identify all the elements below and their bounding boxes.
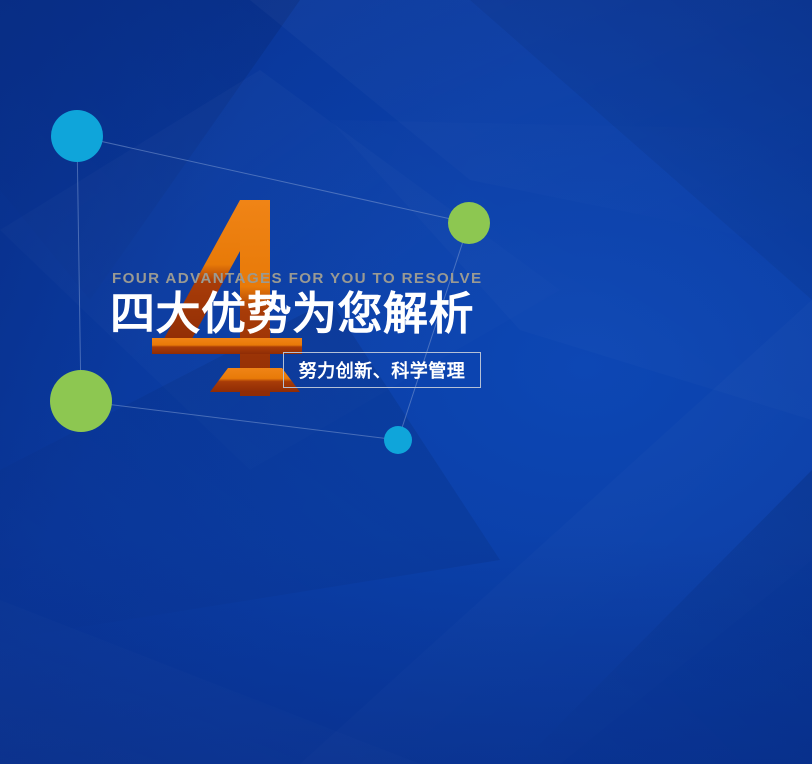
circle-node-icon-cyan-bottom bbox=[384, 426, 412, 454]
promo-banner: FOUR ADVANTAGES FOR YOU TO RESOLVE 四大优势为… bbox=[0, 0, 812, 764]
tagline-badge-label: 努力创新、科学管理 bbox=[299, 357, 466, 383]
banner-headline: 四大优势为您解析 bbox=[110, 288, 474, 340]
circle-node-icon-green-bottom-left bbox=[50, 370, 112, 432]
circle-node-icon-green-right bbox=[448, 202, 490, 244]
tagline-badge[interactable]: 努力创新、科学管理 bbox=[283, 352, 481, 388]
circle-node-icon-cyan-top-left bbox=[51, 110, 103, 162]
banner-eyebrow: FOUR ADVANTAGES FOR YOU TO RESOLVE bbox=[112, 270, 482, 287]
